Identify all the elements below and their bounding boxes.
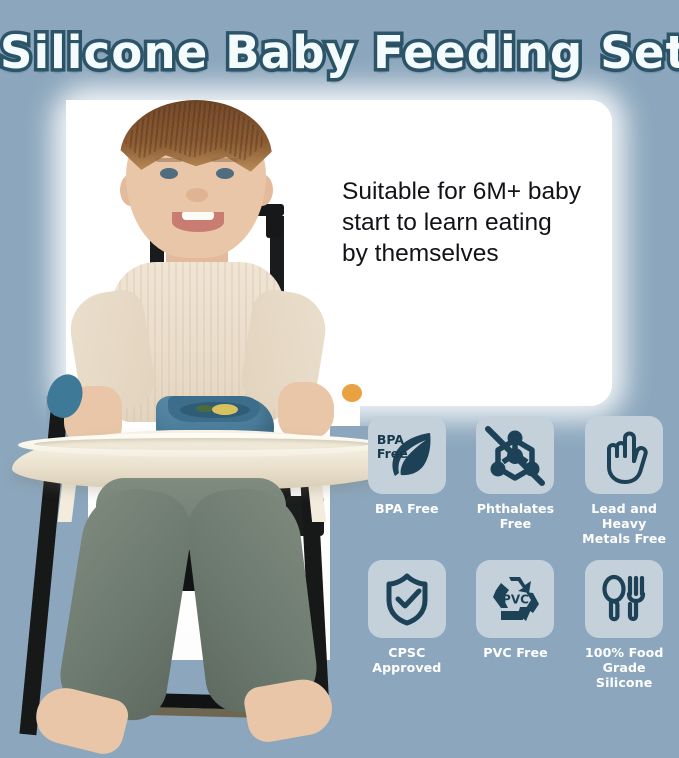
certification-badge-grid: BPA Free BPA Free [358, 416, 673, 668]
badge-label-line-1: Phthalates [477, 501, 555, 516]
badge-tile-food-grade-silicone [585, 560, 663, 638]
baby-eye-left [160, 168, 178, 179]
badge-label-cpsc-approved: CPSC Approved [358, 645, 456, 675]
baby-nose [186, 188, 208, 202]
spoon-fork-icon [585, 560, 663, 638]
feature-description-line-3: by themselves [342, 238, 602, 269]
bpa-text-line-2: Free [377, 447, 408, 461]
baby-eyebrow-left [156, 158, 182, 162]
page-title-bar: Silicone Baby Feeding Set [0, 26, 679, 88]
badge-label-line-2: Metals Free [575, 531, 673, 546]
molecule-no-icon [476, 416, 554, 494]
badge-label-line-1: BPA Free [375, 501, 439, 516]
badge-label-food-grade-silicone: 100% Food Grade Silicone [575, 645, 673, 690]
badge-tile-cpsc-approved [368, 560, 446, 638]
badge-label-line-2: Free [477, 516, 555, 531]
badge-cpsc-approved: CPSC Approved [358, 560, 456, 690]
food-piece-in-hand [342, 384, 362, 402]
badge-phthalates-free: Phthalates Free [467, 416, 565, 546]
feature-description-line-1: Suitable for 6M+ baby [342, 176, 602, 207]
badge-tile-phthalates-free [476, 416, 554, 494]
badge-food-grade-silicone: 100% Food Grade Silicone [575, 560, 673, 690]
badge-tile-pvc-free: PVC [476, 560, 554, 638]
badge-tile-lead-heavy-metals-free [585, 416, 663, 494]
feature-description: Suitable for 6M+ baby start to learn eat… [342, 176, 602, 269]
badge-label-line-1: Lead and Heavy [575, 501, 673, 531]
badge-bpa-free: BPA Free BPA Free [358, 416, 456, 546]
badge-lead-heavy-metals-free: Lead and Heavy Metals Free [575, 416, 673, 546]
badge-label-lead-heavy-metals-free: Lead and Heavy Metals Free [575, 501, 673, 546]
highchair-tray-groove [34, 438, 370, 450]
badge-label-line-1: CPSC Approved [358, 645, 456, 675]
pvc-icon-text: PVC [502, 593, 529, 607]
badge-label-line-1: PVC Free [483, 645, 548, 660]
badge-tile-bpa-free: BPA Free [368, 416, 446, 494]
feature-description-line-2: start to learn eating [342, 207, 602, 238]
badge-label-pvc-free: PVC Free [483, 645, 548, 660]
shield-check-icon [368, 560, 446, 638]
bpa-free-icon-text: BPA Free [377, 433, 408, 460]
badge-label-phthalates-free: Phthalates Free [477, 501, 555, 531]
baby-eyebrow-right [212, 158, 238, 162]
badge-label-bpa-free: BPA Free [375, 501, 439, 516]
baby-eye-right [216, 168, 234, 179]
product-photo-baby-in-highchair [0, 96, 360, 679]
baby-teeth [182, 212, 214, 220]
baby-hand-right [278, 382, 334, 440]
bpa-text-line-1: BPA [377, 433, 408, 447]
badge-pvc-free: PVC PVC Free [467, 560, 565, 690]
page-title: Silicone Baby Feeding Set [0, 26, 679, 79]
badge-label-line-1: 100% Food [575, 645, 673, 660]
badge-label-line-2: Grade Silicone [575, 660, 673, 690]
hand-icon [585, 416, 663, 494]
bowl-food-yellow [212, 404, 238, 415]
